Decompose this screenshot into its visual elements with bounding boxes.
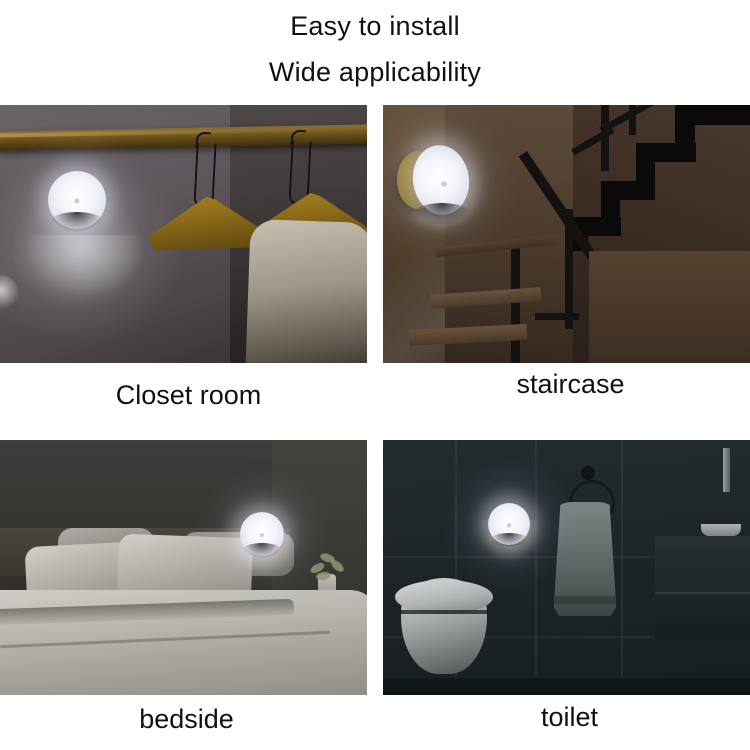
scene-caption-staircase: staircase xyxy=(383,371,750,398)
scene-caption-bedside: bedside xyxy=(0,706,367,733)
led-puck-light xyxy=(240,512,284,556)
headline-secondary: Wide applicability xyxy=(0,59,750,86)
puck-shadow xyxy=(413,203,471,225)
led-puck-light xyxy=(397,145,469,217)
vanity-drawer-line xyxy=(655,592,750,594)
towel-ring-mount xyxy=(581,466,595,480)
scene-photo-staircase xyxy=(383,105,750,363)
leaf xyxy=(316,571,332,581)
puck-shadow xyxy=(50,212,103,232)
scene-caption-toilet: toilet xyxy=(383,704,750,731)
baluster xyxy=(565,209,573,329)
scene-photo-closet xyxy=(0,105,367,363)
plant-foliage xyxy=(306,548,350,582)
towel-hem xyxy=(553,596,617,604)
led-puck-light xyxy=(48,171,106,229)
scene-photo-bedside xyxy=(0,440,367,695)
tile-grout-line xyxy=(621,440,623,680)
hanger-hook xyxy=(193,143,216,208)
bathroom-floor xyxy=(383,678,750,695)
hanging-garment xyxy=(245,219,367,363)
header-block: Easy to install Wide applicability xyxy=(0,0,750,105)
scene-photo-toilet xyxy=(383,440,750,695)
motion-sensor-dot xyxy=(507,523,511,527)
leaf xyxy=(329,558,346,574)
led-puck-light xyxy=(488,503,530,545)
motion-sensor-dot xyxy=(441,181,447,187)
stair-side-wall xyxy=(589,251,750,363)
faucet xyxy=(723,448,730,492)
headline-primary: Easy to install xyxy=(0,13,750,40)
motion-sensor-dot xyxy=(260,533,264,537)
vessel-sink-base xyxy=(701,524,741,536)
vanity-cabinet xyxy=(655,536,750,640)
scene-caption-closet: Closet room xyxy=(0,382,367,409)
rail-cross-member xyxy=(535,313,579,320)
